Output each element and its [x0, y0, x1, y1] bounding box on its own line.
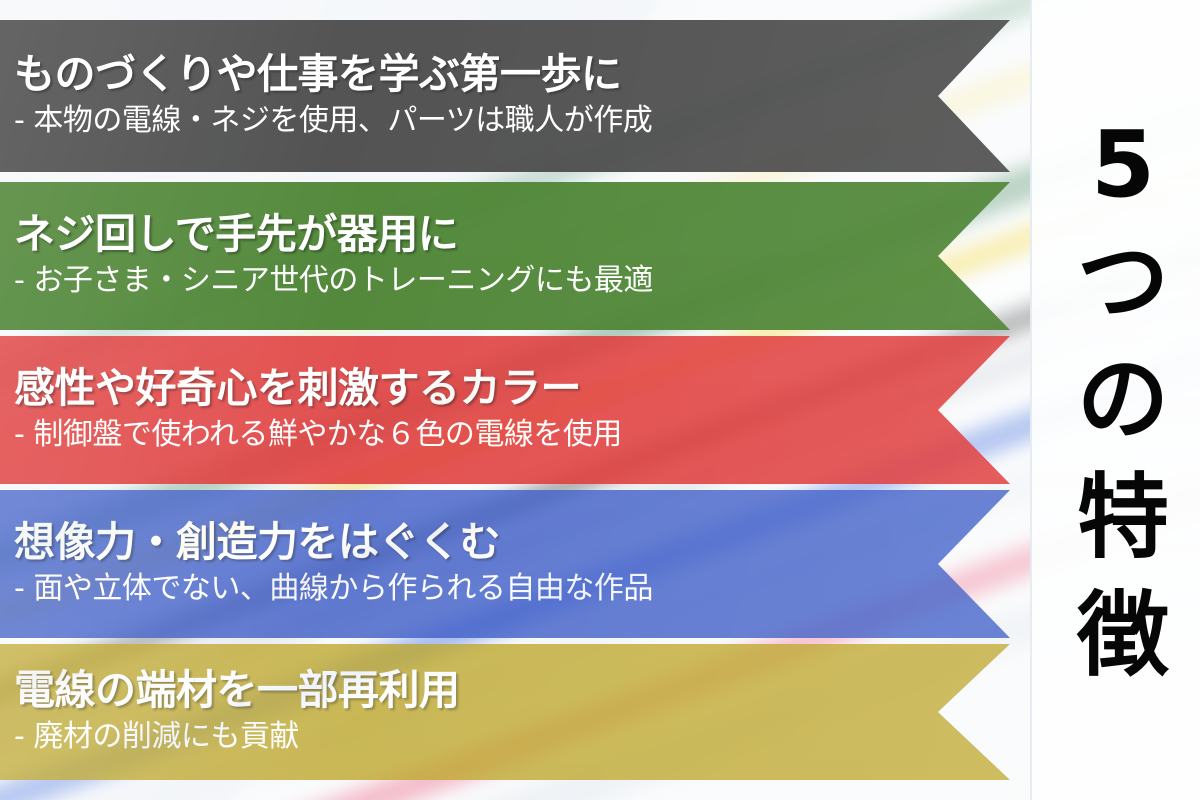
banner-headline: 感性や好奇心を刺激するカラー: [14, 366, 1010, 412]
poster-vertical-title: 5つの特徴: [1063, 106, 1169, 695]
banner-text-wrap: 電線の端材を一部再利用- 廃材の削減にも貢献: [14, 668, 1010, 754]
banner-subline: - お子さま・シニア世代のトレーニングにも最適: [14, 263, 1010, 298]
side-title-glyph: 特: [1077, 459, 1169, 577]
side-title-glyph: つ: [1077, 223, 1169, 341]
banner-subline: - 面や立体でない、曲線から作られる自由な作品: [14, 571, 1010, 606]
feature-banner-3: 感性や好奇心を刺激するカラー- 制御盤で使われる鮮やかな６色の電線を使用: [0, 336, 1010, 484]
banner-text-wrap: ものづくりや仕事を学ぶ第一歩に- 本物の電線・ネジを使用、パーツは職人が作成: [14, 52, 1010, 138]
banner-subline: - 制御盤で使われる鮮やかな６色の電線を使用: [14, 417, 1010, 452]
banner-headline: 想像力・創造力をはぐくむ: [14, 520, 1010, 566]
poster-root: ものづくりや仕事を学ぶ第一歩に- 本物の電線・ネジを使用、パーツは職人が作成ネジ…: [0, 0, 1200, 800]
banner-subline: - 廃材の削減にも貢献: [14, 719, 1010, 754]
banner-text-wrap: ネジ回しで手先が器用に- お子さま・シニア世代のトレーニングにも最適: [14, 212, 1010, 298]
feature-banner-2: ネジ回しで手先が器用に- お子さま・シニア世代のトレーニングにも最適: [0, 182, 1010, 330]
feature-banner-4: 想像力・創造力をはぐくむ- 面や立体でない、曲線から作られる自由な作品: [0, 490, 1010, 638]
banner-headline: ネジ回しで手先が器用に: [14, 212, 1010, 258]
feature-banner-5: 電線の端材を一部再利用- 廃材の削減にも貢献: [0, 644, 1010, 780]
banner-text-wrap: 想像力・創造力をはぐくむ- 面や立体でない、曲線から作られる自由な作品: [14, 520, 1010, 606]
banner-headline: ものづくりや仕事を学ぶ第一歩に: [14, 52, 1010, 98]
feature-banner-1: ものづくりや仕事を学ぶ第一歩に- 本物の電線・ネジを使用、パーツは職人が作成: [0, 20, 1010, 172]
side-title-column: 5つの特徴: [1030, 0, 1200, 800]
side-title-glyph: 5: [1077, 106, 1169, 224]
banner-subline: - 本物の電線・ネジを使用、パーツは職人が作成: [14, 103, 1010, 138]
side-title-glyph: の: [1077, 341, 1169, 459]
side-title-glyph: 徴: [1077, 577, 1169, 695]
banner-headline: 電線の端材を一部再利用: [14, 668, 1010, 714]
banner-text-wrap: 感性や好奇心を刺激するカラー- 制御盤で使われる鮮やかな６色の電線を使用: [14, 366, 1010, 452]
